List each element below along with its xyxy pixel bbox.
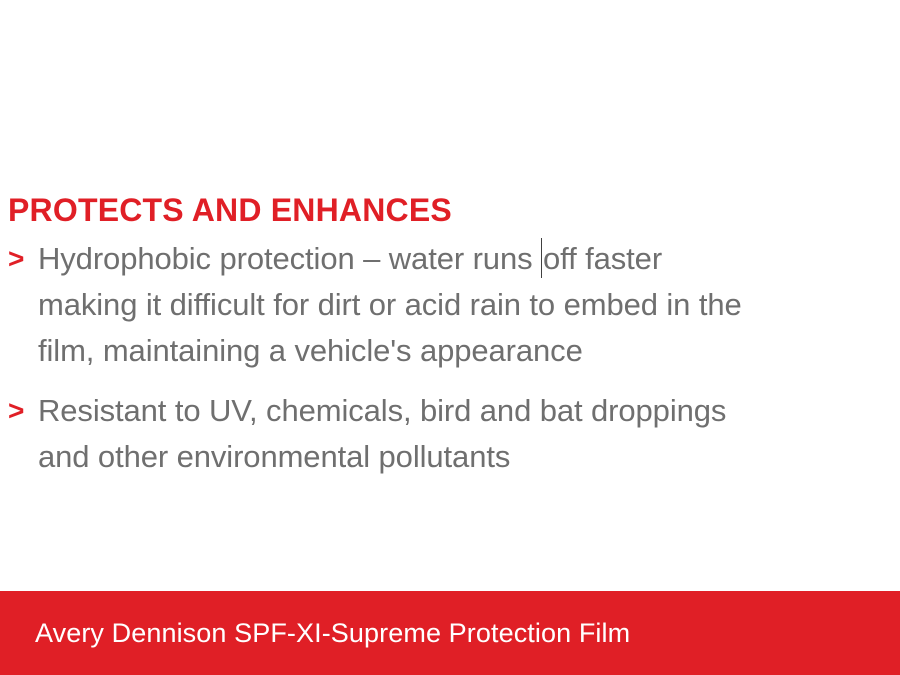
bullet-list: > Hydrophobic protection – water runs of…: [6, 236, 896, 494]
bullet-line-segment: Hydrophobic protection – water runs: [38, 241, 541, 276]
list-item-text[interactable]: Hydrophobic protection – water runs off …: [38, 236, 896, 374]
bullet-line: and other environmental pollutants: [38, 434, 896, 480]
bullet-line: Resistant to UV, chemicals, bird and bat…: [38, 388, 896, 434]
text-cursor-caret: [541, 238, 542, 278]
bullet-line: film, maintaining a vehicle's appearance: [38, 328, 896, 374]
footer-label: Avery Dennison SPF-XI-Supreme Protection…: [35, 591, 630, 675]
presentation-slide: PROTECTS AND ENHANCES > Hydrophobic prot…: [0, 0, 900, 675]
list-item[interactable]: > Hydrophobic protection – water runs of…: [6, 236, 896, 374]
list-item-text[interactable]: Resistant to UV, chemicals, bird and bat…: [38, 388, 896, 480]
bullet-line: making it difficult for dirt or acid rai…: [38, 282, 896, 328]
footer-banner: Avery Dennison SPF-XI-Supreme Protection…: [0, 591, 900, 675]
chevron-right-bullet-icon: >: [6, 236, 38, 282]
list-item[interactable]: > Resistant to UV, chemicals, bird and b…: [6, 388, 896, 480]
bullet-line: Hydrophobic protection – water runs off …: [38, 236, 896, 282]
bullet-line-segment: off faster: [543, 241, 662, 276]
chevron-right-bullet-icon: >: [6, 388, 38, 434]
page-title: PROTECTS AND ENHANCES: [8, 193, 452, 228]
